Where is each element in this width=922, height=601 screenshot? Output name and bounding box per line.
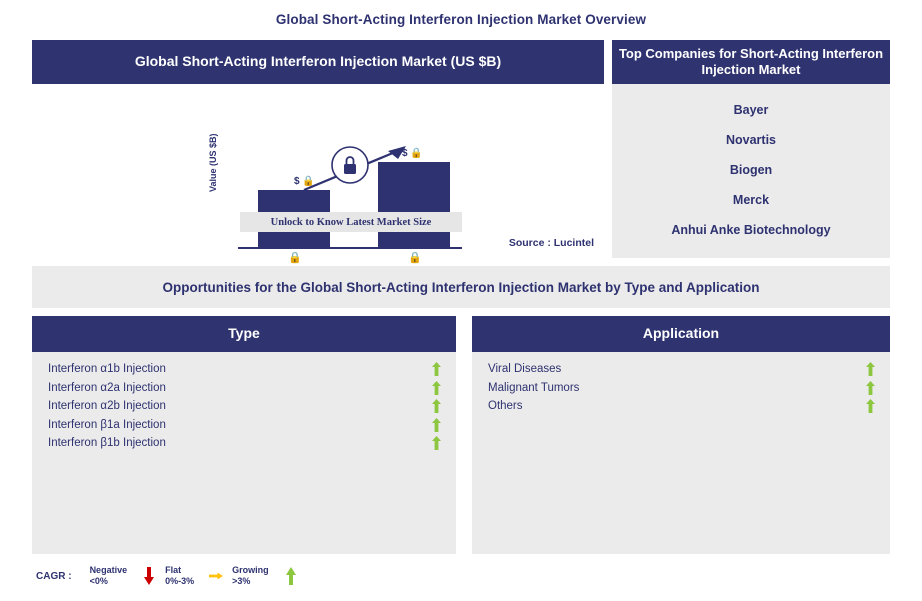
unlock-market-size-banner[interactable]: Unlock to Know Latest Market Size — [240, 212, 462, 232]
list-item-label: Interferon α1b Injection — [48, 363, 166, 375]
arrow-up-icon — [431, 399, 442, 413]
top-companies-panel: Top Companies for Short-Acting Interfero… — [612, 40, 890, 258]
list-item: Viral Diseases — [472, 360, 890, 379]
top-companies-list: Bayer Novartis Biogen Merck Anhui Anke B… — [612, 84, 890, 258]
type-panel: Type Interferon α1b Injection Interferon… — [32, 316, 456, 554]
type-list: Interferon α1b Injection Interferon α2a … — [32, 352, 456, 554]
legend-item-range: 0%-3% — [165, 576, 194, 587]
arrow-right-icon — [209, 566, 223, 586]
type-panel-header: Type — [32, 316, 456, 352]
application-panel-header: Application — [472, 316, 890, 352]
list-item: Interferon α1b Injection — [32, 360, 456, 379]
list-item: Interferon α2a Injection — [32, 379, 456, 398]
list-item-label: Interferon β1b Injection — [48, 437, 166, 449]
legend-item-range: >3% — [232, 576, 269, 587]
list-item: Others — [472, 397, 890, 416]
legend-item-flat: Flat 0%-3% — [165, 565, 194, 588]
arrow-down-icon — [142, 566, 156, 586]
legend-item-text: Negative <0% — [90, 565, 128, 588]
top-companies-header: Top Companies for Short-Acting Interfero… — [612, 40, 890, 84]
legend-item-label: Growing — [232, 565, 269, 576]
list-item: Interferon α2b Injection — [32, 397, 456, 416]
arrow-up-icon — [865, 381, 876, 395]
list-item-label: Malignant Tumors — [488, 382, 579, 394]
market-chart-panel: Global Short-Acting Interferon Injection… — [32, 40, 604, 258]
company-item: Anhui Anke Biotechnology — [612, 215, 890, 245]
legend-item-growing: Growing >3% — [232, 565, 269, 588]
list-item: Interferon β1b Injection — [32, 434, 456, 453]
source-note: Source : Lucintel — [509, 237, 594, 249]
legend-item-text: Growing >3% — [232, 565, 269, 588]
list-item: Malignant Tumors — [472, 379, 890, 398]
market-chart-body: Value (US $B) $ 🔒 $ 🔒 🔒 🔒 Unlock to Know… — [32, 84, 604, 258]
legend-item-text: Flat 0%-3% — [165, 565, 194, 588]
legend-item-negative: Negative <0% — [90, 565, 128, 588]
page-title: Global Short-Acting Interferon Injection… — [0, 12, 922, 27]
application-list: Viral Diseases Malignant Tumors Others — [472, 352, 890, 554]
arrow-up-icon — [431, 381, 442, 395]
list-item-label: Interferon β1a Injection — [48, 419, 166, 431]
arrow-up-icon — [284, 566, 298, 586]
list-item-label: Viral Diseases — [488, 363, 561, 375]
cagr-legend-title: CAGR : — [36, 571, 72, 582]
company-item: Novartis — [612, 125, 890, 155]
chart-x-tick-2-lock-icon: 🔒 — [408, 251, 422, 264]
company-item: Merck — [612, 185, 890, 215]
legend-item-label: Flat — [165, 565, 194, 576]
list-item-label: Interferon α2a Injection — [48, 382, 166, 394]
application-panel: Application Viral Diseases Malignant Tum… — [472, 316, 890, 554]
arrow-up-icon — [865, 399, 876, 413]
company-item: Biogen — [612, 155, 890, 185]
cagr-legend: CAGR : Negative <0% Flat 0%-3% Growing >… — [36, 562, 307, 590]
list-item: Interferon β1a Injection — [32, 416, 456, 435]
market-chart-header: Global Short-Acting Interferon Injection… — [32, 40, 604, 84]
list-item-label: Others — [488, 400, 523, 412]
arrow-up-icon — [431, 436, 442, 450]
chart-x-tick-1-lock-icon: 🔒 — [288, 251, 302, 264]
chart-x-axis-line — [238, 247, 462, 249]
opportunities-banner: Opportunities for the Global Short-Actin… — [32, 266, 890, 308]
chart-y-axis-label: Value (US $B) — [208, 133, 218, 192]
legend-item-range: <0% — [90, 576, 128, 587]
growth-arrow-lock-icon — [302, 142, 412, 204]
company-item: Bayer — [612, 95, 890, 125]
arrow-up-icon — [865, 362, 876, 376]
arrow-up-icon — [431, 418, 442, 432]
list-item-label: Interferon α2b Injection — [48, 400, 166, 412]
arrow-up-icon — [431, 362, 442, 376]
legend-item-label: Negative — [90, 565, 128, 576]
